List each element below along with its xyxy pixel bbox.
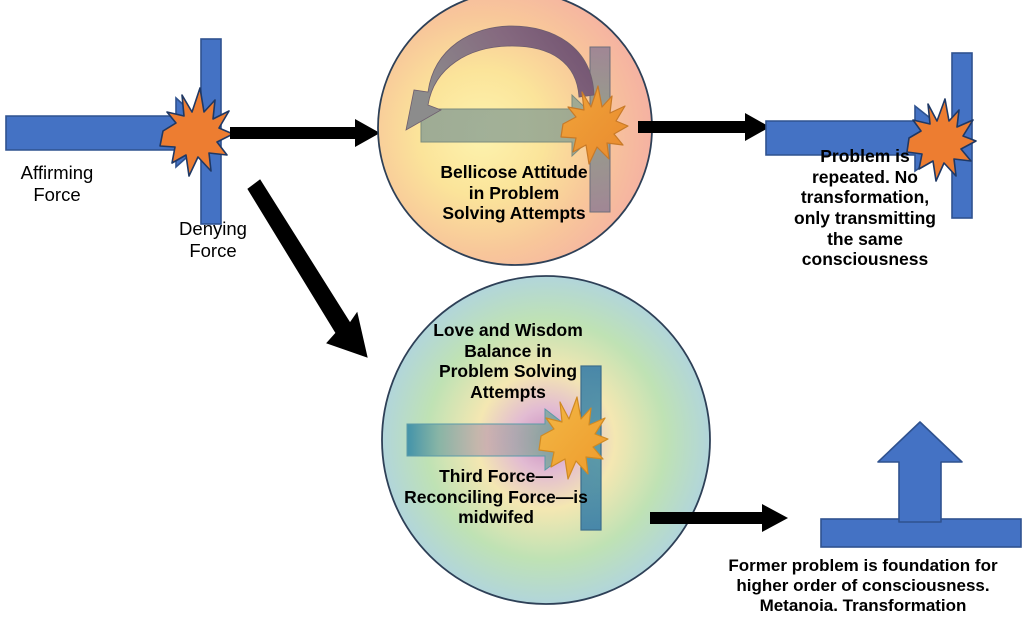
third-force-label: Third Force— Reconciling Force—is midwif… [372,466,620,528]
affirming-force-label: Affirming Force [0,162,114,206]
black-right-arrow [230,119,380,147]
bellicose-circle-group [378,0,652,265]
denying-force-label: Denying Force [154,218,272,262]
transformation-up-arrow [878,422,962,522]
connector-stage1-to-bottom-circle [248,180,367,357]
black-right-arrow-2 [638,113,770,141]
stage3-bottom-outcome-group [821,422,1021,547]
pedestal-base-bar [821,519,1021,547]
connector-stage1-to-top-circle [230,119,380,147]
love-wisdom-label: Love and Wisdom Balance in Problem Solvi… [396,320,620,403]
transformation-label: Former problem is foundation for higher … [704,556,1022,616]
bellicose-circle-label: Bellicose Attitude in Problem Solving At… [398,162,630,224]
repeated-problem-label: Problem is repeated. No transformation, … [756,146,974,270]
collision-starburst [160,88,233,176]
connector-top-circle-to-outcome [638,113,770,141]
black-diagonal-arrow [248,180,367,357]
diagram-canvas [0,0,1023,623]
